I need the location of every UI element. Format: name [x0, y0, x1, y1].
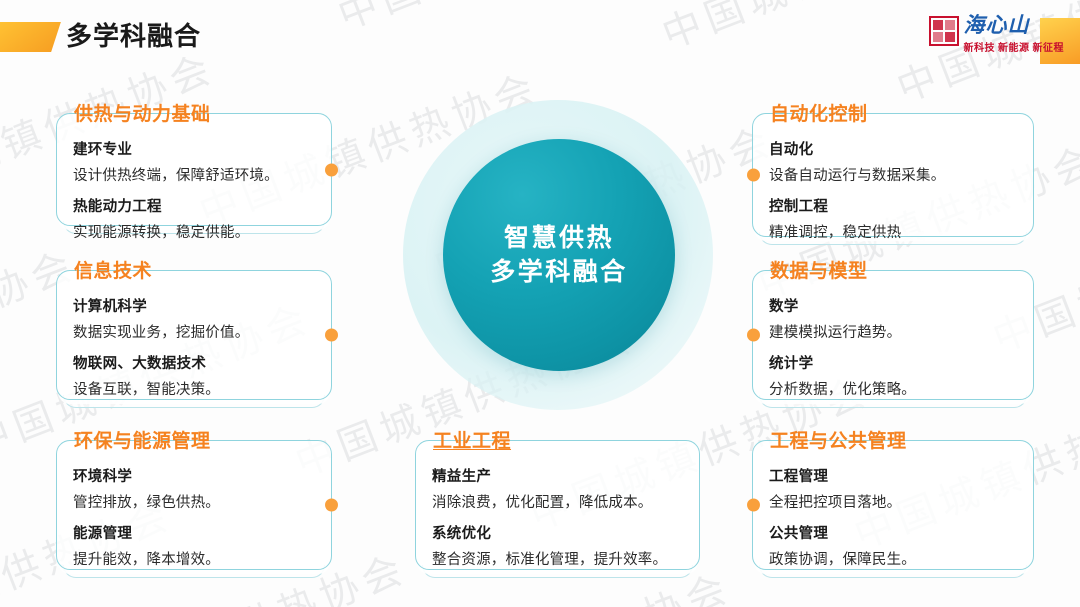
card-information-technology[interactable]: 信息技术 计算机科学 数据实现业务，挖掘价值。 物联网、大数据技术 设备互联，智…: [56, 270, 332, 400]
card-description-2: 整合资源，标准化管理，提升效率。: [432, 548, 683, 569]
card-description-2: 提升能效，降本增效。: [73, 548, 315, 569]
slide-header: 多学科融合 海心山 新科技 新能源 新征程: [0, 0, 1080, 82]
card-heading: 工程与公共管理: [767, 426, 910, 453]
card-shell: 供热与动力基础 建环专业 设计供热终端，保障舒适环境。 热能动力工程 实现能源转…: [56, 113, 332, 226]
card-automation-control[interactable]: 自动化控制 自动化 设备自动运行与数据采集。 控制工程 精准调控，稳定供热: [752, 113, 1034, 237]
card-subtitle-2: 公共管理: [769, 522, 1017, 543]
card-body: 环境科学 管控排放，绿色供热。 能源管理 提升能效，降本增效。: [57, 441, 331, 579]
card-data-model[interactable]: 数据与模型 数学 建模模拟运行趋势。 统计学 分析数据，优化策略。: [752, 270, 1034, 400]
card-shell: 工业工程 精益生产 消除浪费，优化配置，降低成本。 系统优化 整合资源，标准化管…: [415, 440, 700, 570]
card-description-1: 设备自动运行与数据采集。: [769, 164, 1017, 185]
card-description-1: 全程把控项目落地。: [769, 491, 1017, 512]
card-subtitle-1: 建环专业: [73, 138, 315, 159]
card-subtitle-1: 工程管理: [769, 465, 1017, 486]
card-shell: 数据与模型 数学 建模模拟运行趋势。 统计学 分析数据，优化策略。: [752, 270, 1034, 400]
card-subtitle-1: 精益生产: [432, 465, 683, 486]
connector-dot-icon: [747, 329, 760, 342]
card-subtitle-2: 系统优化: [432, 522, 683, 543]
logo-text-group: 海心山 新科技 新能源 新征程: [964, 14, 1065, 54]
title-accent-shape: [0, 22, 61, 52]
connector-dot-icon: [325, 329, 338, 342]
card-subtitle-2: 物联网、大数据技术: [73, 352, 315, 373]
card-heading: 数据与模型: [767, 256, 871, 283]
page-title: 多学科融合: [66, 16, 201, 53]
card-body: 工程管理 全程把控项目落地。 公共管理 政策协调，保障民生。: [753, 441, 1033, 579]
card-description-2: 分析数据，优化策略。: [769, 378, 1017, 399]
card-body: 精益生产 消除浪费，优化配置，降低成本。 系统优化 整合资源，标准化管理，提升效…: [416, 441, 699, 579]
card-description-2: 设备互联，智能决策。: [73, 378, 315, 399]
center-circle: 智慧供热 多学科融合: [443, 139, 675, 371]
connector-dot-icon: [747, 169, 760, 182]
card-shell: 自动化控制 自动化 设备自动运行与数据采集。 控制工程 精准调控，稳定供热: [752, 113, 1034, 237]
card-body: 自动化 设备自动运行与数据采集。 控制工程 精准调控，稳定供热: [753, 114, 1033, 252]
seal-icon: [929, 16, 959, 46]
card-industrial-engineering[interactable]: 工业工程 精益生产 消除浪费，优化配置，降低成本。 系统优化 整合资源，标准化管…: [415, 440, 700, 570]
logo-name: 海心山: [964, 14, 1065, 36]
brand-logo: 海心山 新科技 新能源 新征程: [929, 14, 1065, 60]
card-body: 数学 建模模拟运行趋势。 统计学 分析数据，优化策略。: [753, 271, 1033, 409]
card-heading: 环保与能源管理: [71, 426, 214, 453]
card-subtitle-2: 能源管理: [73, 522, 315, 543]
card-subtitle-1: 自动化: [769, 138, 1017, 159]
card-shell: 环保与能源管理 环境科学 管控排放，绿色供热。 能源管理 提升能效，降本增效。: [56, 440, 332, 570]
connector-dot-icon: [325, 499, 338, 512]
card-heating-power[interactable]: 供热与动力基础 建环专业 设计供热终端，保障舒适环境。 热能动力工程 实现能源转…: [56, 113, 332, 226]
center-title-line1: 智慧供热: [504, 221, 614, 255]
card-subtitle-1: 环境科学: [73, 465, 315, 486]
connector-dot-icon: [747, 499, 760, 512]
card-subtitle-2: 统计学: [769, 352, 1017, 373]
card-engineering-public-management[interactable]: 工程与公共管理 工程管理 全程把控项目落地。 公共管理 政策协调，保障民生。: [752, 440, 1034, 570]
card-body: 建环专业 设计供热终端，保障舒适环境。 热能动力工程 实现能源转换，稳定供能。: [57, 114, 331, 252]
card-description-1: 建模模拟运行趋势。: [769, 321, 1017, 342]
card-body: 计算机科学 数据实现业务，挖掘价值。 物联网、大数据技术 设备互联，智能决策。: [57, 271, 331, 409]
card-heading: 工业工程: [430, 426, 514, 453]
center-title-line2: 多学科融合: [490, 255, 628, 289]
card-subtitle-2: 热能动力工程: [73, 195, 315, 216]
card-environment-energy[interactable]: 环保与能源管理 环境科学 管控排放，绿色供热。 能源管理 提升能效，降本增效。: [56, 440, 332, 570]
slide-canvas: 中国城镇供热协会 中国城镇供热协会 中国城镇供热协会 中国城镇供热协会 中国城镇…: [0, 0, 1080, 607]
card-subtitle-1: 数学: [769, 295, 1017, 316]
card-description-1: 消除浪费，优化配置，降低成本。: [432, 491, 683, 512]
card-description-1: 管控排放，绿色供热。: [73, 491, 315, 512]
card-heading: 信息技术: [71, 256, 155, 283]
card-shell: 工程与公共管理 工程管理 全程把控项目落地。 公共管理 政策协调，保障民生。: [752, 440, 1034, 570]
card-subtitle-1: 计算机科学: [73, 295, 315, 316]
card-description-2: 精准调控，稳定供热: [769, 221, 1017, 242]
logo-tagline: 新科技 新能源 新征程: [964, 39, 1065, 54]
card-heading: 自动化控制: [767, 99, 871, 126]
card-description-1: 数据实现业务，挖掘价值。: [73, 321, 315, 342]
card-shell: 信息技术 计算机科学 数据实现业务，挖掘价值。 物联网、大数据技术 设备互联，智…: [56, 270, 332, 400]
card-description-1: 设计供热终端，保障舒适环境。: [73, 164, 315, 185]
card-description-2: 政策协调，保障民生。: [769, 548, 1017, 569]
card-heading: 供热与动力基础: [71, 99, 214, 126]
card-description-2: 实现能源转换，稳定供能。: [73, 221, 315, 242]
card-subtitle-2: 控制工程: [769, 195, 1017, 216]
connector-dot-icon: [325, 163, 338, 176]
